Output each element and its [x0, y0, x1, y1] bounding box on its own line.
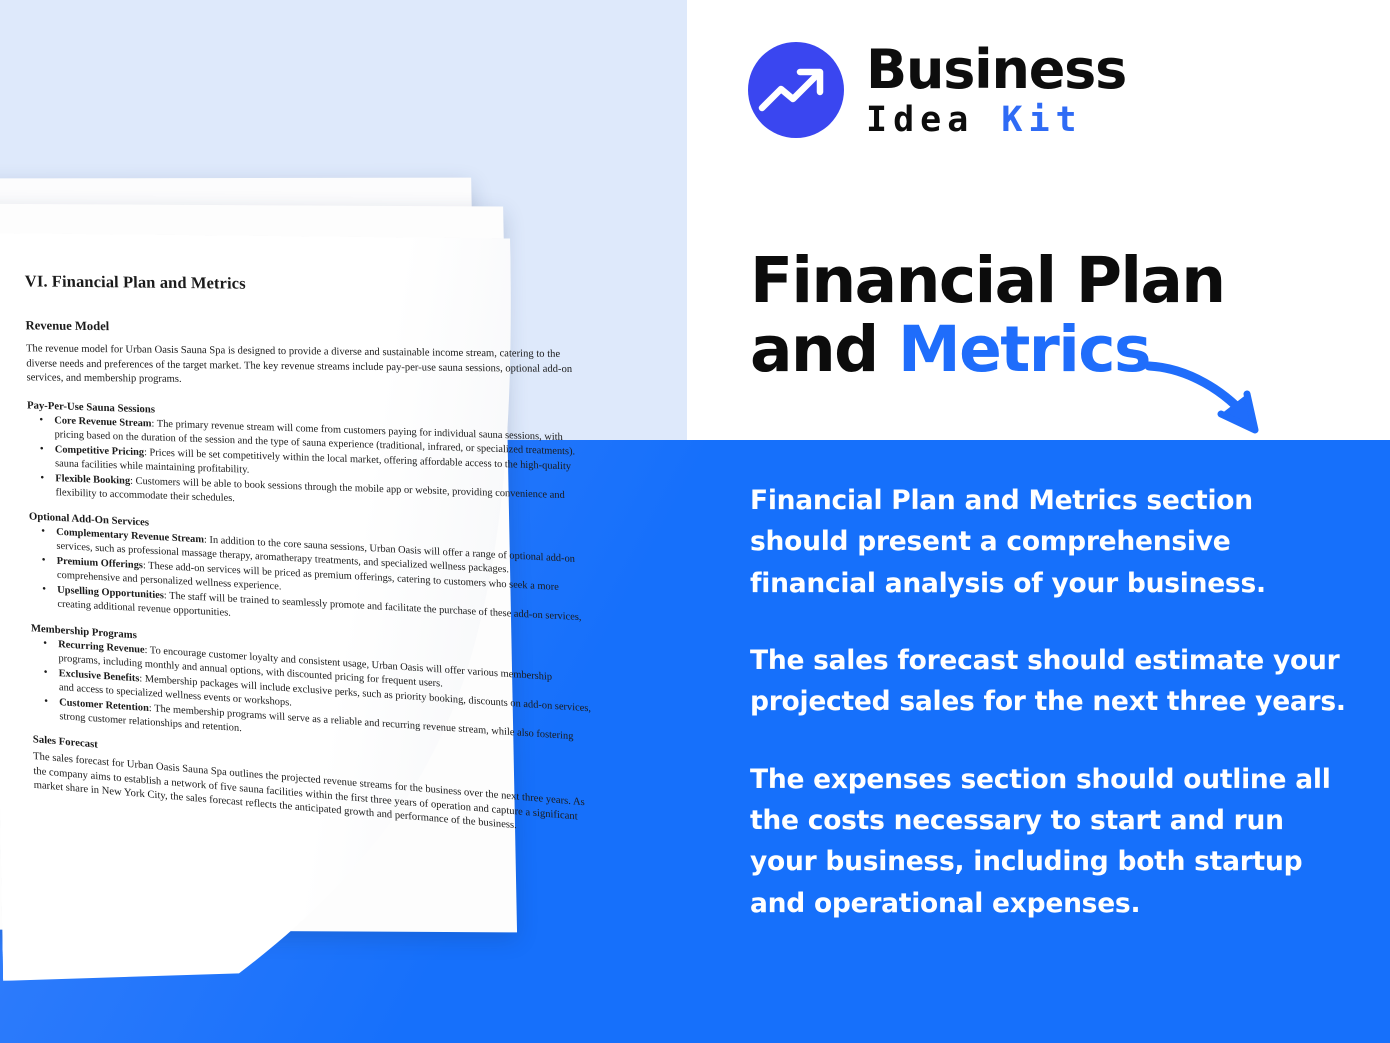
title-line-1: Financial Plan [750, 247, 1350, 316]
logo-line-business: Business [866, 43, 1126, 97]
logo-line-idea-kit: Idea Kit [866, 103, 1126, 138]
poster-canvas: VI. Re The inco stre Pay Op M S VI. Fina… [0, 0, 1390, 1043]
body-paragraph-3: The expenses section should outline all … [750, 759, 1350, 924]
document-page-front: VI. Financial Plan and Metrics Revenue M… [0, 233, 615, 981]
page-surface [0, 233, 628, 987]
trending-up-arrow-icon [748, 42, 844, 138]
logo-kit-text: Kit [1001, 100, 1082, 140]
title-line-2-accent: Metrics [898, 313, 1150, 386]
brand-logo: Business Idea Kit [748, 42, 1126, 138]
body-copy: Financial Plan and Metrics section shoul… [750, 480, 1350, 924]
body-paragraph-2: The sales forecast should estimate your … [750, 640, 1350, 723]
logo-wordmark: Business Idea Kit [866, 43, 1126, 138]
document-page-stack: VI. Re The inco stre Pay Op M S VI. Fina… [0, 178, 728, 978]
logo-idea-text: Idea [866, 100, 974, 140]
body-paragraph-1: Financial Plan and Metrics section shoul… [750, 480, 1350, 604]
title-line-2-prefix: and [750, 313, 898, 386]
curved-arrow-down-right-icon [1143, 352, 1293, 452]
